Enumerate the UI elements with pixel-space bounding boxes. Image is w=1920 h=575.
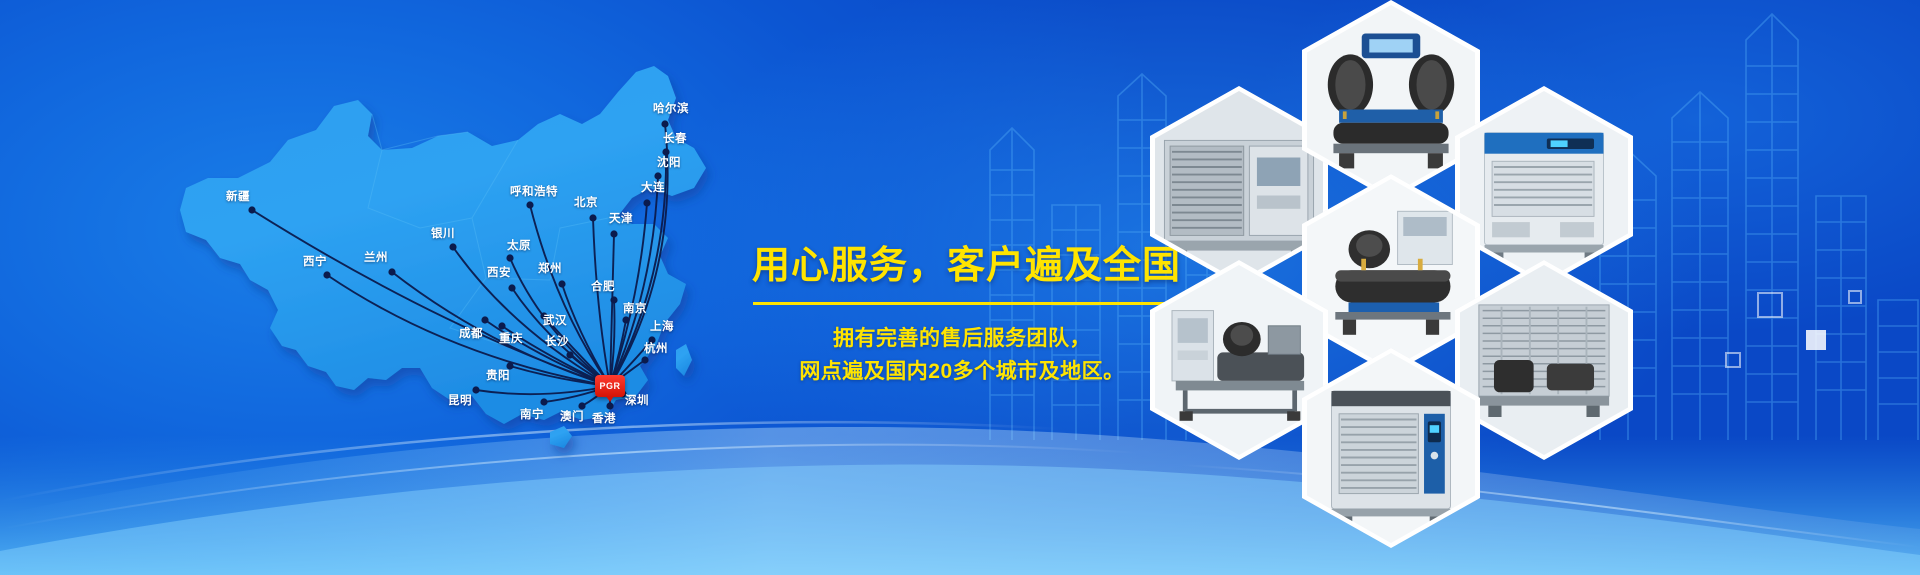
city-dot: [323, 271, 330, 278]
china-service-network-map: 新疆西宁兰州银川太原呼和浩特北京天津大连沈阳长春哈尔滨郑州西安合肥南京上海杭州武…: [120, 28, 760, 458]
product-hex-finned-condenser-chiller[interactable]: [1455, 260, 1633, 460]
city-dot: [506, 254, 513, 261]
city-dot: [648, 336, 655, 343]
city-dot: [661, 120, 668, 127]
city-dot: [540, 398, 547, 405]
city-dot: [526, 201, 533, 208]
city-dot: [566, 351, 573, 358]
city-dot: [248, 206, 255, 213]
city-dot: [589, 214, 596, 221]
city-dot: [641, 356, 648, 363]
product-hex-water-cooled-screw-chiller[interactable]: [1302, 0, 1480, 200]
city-dot: [506, 362, 513, 369]
city-dot: [540, 312, 547, 319]
decor-square-3: [1848, 290, 1862, 304]
city-dot: [472, 386, 479, 393]
hub-marker-badge: PGR: [595, 375, 625, 397]
city-dot: [508, 284, 515, 291]
promo-subtitle: 拥有完善的售后服务团队， 网点遍及国内20多个城市及地区。: [752, 323, 1172, 388]
city-dot: [481, 316, 488, 323]
promo-headline: 用心服务，客户遍及全国: [752, 246, 1172, 287]
city-dot: [622, 316, 629, 323]
city-dot: [558, 280, 565, 287]
promo-subtitle-line-1: 拥有完善的售后服务团队，: [752, 323, 1172, 356]
product-hex-gallery: [1150, 0, 1740, 575]
divider-rule: [753, 302, 1171, 305]
city-dot: [578, 402, 585, 409]
product-hex-open-frame-compressor-unit[interactable]: [1150, 260, 1328, 460]
product-hex-industrial-water-chiller[interactable]: [1302, 348, 1480, 548]
product-hex-air-cooled-condensing-unit[interactable]: [1150, 86, 1328, 286]
city-dot: [449, 243, 456, 250]
decor-square-1: [1806, 330, 1826, 350]
promo-subtitle-line-2: 网点遍及国内20多个城市及地区。: [752, 356, 1172, 389]
city-dot: [643, 199, 650, 206]
city-dot: [498, 322, 505, 329]
city-dot: [610, 230, 617, 237]
promo-banner: 新疆西宁兰州银川太原呼和浩特北京天津大连沈阳长春哈尔滨郑州西安合肥南京上海杭州武…: [0, 0, 1920, 575]
map-svg: [120, 28, 760, 458]
city-dot: [662, 148, 669, 155]
decor-square-0: [1757, 292, 1783, 318]
city-dot: [610, 296, 617, 303]
city-dot: [388, 268, 395, 275]
product-hex-air-cooled-box-chiller[interactable]: [1455, 86, 1633, 286]
product-hex-horizontal-shell-tube-unit[interactable]: [1302, 174, 1480, 374]
city-dot: [654, 172, 661, 179]
city-dot: [606, 402, 613, 409]
china-landmass: [180, 66, 706, 448]
promo-copy-block: 用心服务，客户遍及全国 拥有完善的售后服务团队， 网点遍及国内20多个城市及地区…: [752, 246, 1172, 388]
